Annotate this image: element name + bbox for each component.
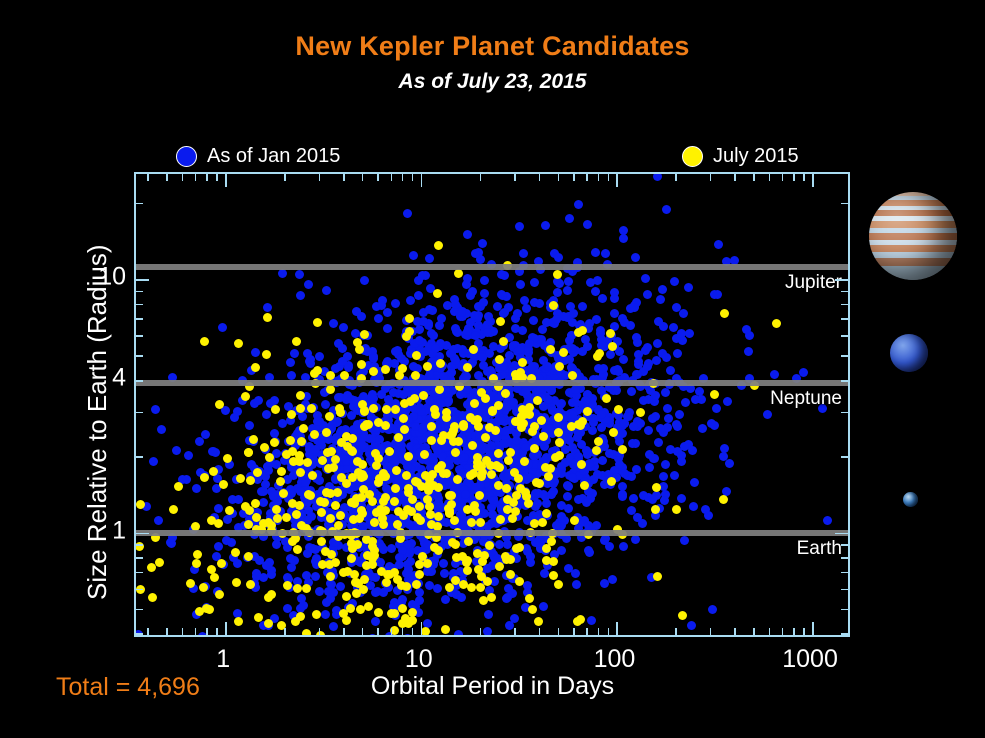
- data-point: [710, 390, 719, 399]
- data-point: [533, 396, 542, 405]
- data-point: [390, 497, 399, 506]
- axis-tick: [803, 628, 805, 635]
- data-point: [293, 584, 302, 593]
- axis-tick: [195, 628, 197, 635]
- data-point: [200, 473, 209, 482]
- axis-tick: [402, 628, 404, 635]
- data-point: [317, 537, 326, 546]
- data-point: [712, 404, 721, 413]
- data-point: [515, 543, 524, 552]
- axis-tick: [841, 544, 848, 546]
- data-point: [525, 594, 534, 603]
- data-point: [505, 351, 514, 360]
- data-point: [440, 569, 449, 578]
- data-point: [636, 408, 645, 417]
- chart-page: New Kepler Planet Candidates As of July …: [0, 0, 985, 738]
- data-point: [554, 428, 563, 437]
- data-point: [262, 410, 271, 419]
- axis-tick: [402, 174, 404, 181]
- data-point: [494, 449, 503, 458]
- legend-item-july-2015: July 2015: [682, 145, 799, 168]
- data-point: [434, 512, 443, 521]
- data-point: [296, 391, 305, 400]
- data-point: [184, 451, 193, 460]
- data-point: [681, 398, 690, 407]
- axis-tick: [412, 174, 414, 181]
- data-point: [241, 392, 250, 401]
- legend-item-jan-2015: As of Jan 2015: [176, 145, 340, 168]
- data-point: [477, 472, 486, 481]
- data-point: [656, 295, 665, 304]
- data-point: [535, 299, 544, 308]
- data-point: [425, 305, 434, 314]
- data-point: [329, 622, 338, 631]
- data-point: [375, 474, 384, 483]
- axis-tick: [147, 628, 149, 635]
- data-point: [172, 446, 181, 455]
- data-point: [186, 579, 195, 588]
- data-point: [484, 610, 493, 619]
- axis-tick: [598, 174, 600, 181]
- data-point: [251, 499, 260, 508]
- data-point: [670, 277, 679, 286]
- data-point: [363, 551, 372, 560]
- data-point: [690, 478, 699, 487]
- data-point: [292, 510, 301, 519]
- data-point: [485, 541, 494, 550]
- reference-label-jupiter: Jupiter: [785, 272, 842, 294]
- data-point: [263, 313, 272, 322]
- data-point: [454, 269, 463, 278]
- axis-tick: [753, 174, 755, 181]
- data-point: [549, 571, 558, 580]
- axis-tick: [514, 174, 516, 181]
- data-point: [463, 230, 472, 239]
- axis-tick: [841, 318, 848, 320]
- data-point: [546, 345, 555, 354]
- axis-tick: [377, 174, 379, 181]
- data-point: [482, 456, 491, 465]
- data-point: [315, 587, 324, 596]
- data-point: [223, 454, 232, 463]
- data-point: [652, 483, 661, 492]
- data-point: [564, 504, 573, 513]
- data-point: [433, 289, 442, 298]
- axis-tick: [841, 203, 848, 205]
- data-point: [403, 505, 412, 514]
- data-point: [540, 569, 549, 578]
- data-point: [427, 436, 436, 445]
- data-point: [500, 308, 509, 317]
- data-point: [659, 322, 668, 331]
- axis-tick: [136, 456, 143, 458]
- data-point: [192, 559, 201, 568]
- data-point: [606, 329, 615, 338]
- data-point: [313, 366, 322, 375]
- data-point: [406, 397, 415, 406]
- data-point: [504, 456, 513, 465]
- axis-tick: [421, 174, 423, 187]
- data-point: [598, 294, 607, 303]
- data-point: [461, 490, 470, 499]
- data-point: [155, 558, 164, 567]
- data-point: [659, 472, 668, 481]
- data-point: [267, 590, 276, 599]
- x-tick-label: 1: [216, 645, 230, 674]
- data-point: [441, 595, 450, 604]
- data-point: [613, 365, 622, 374]
- data-point: [514, 474, 523, 483]
- data-point: [605, 449, 614, 458]
- axis-tick: [147, 174, 149, 181]
- data-point: [475, 491, 484, 500]
- data-point: [478, 239, 487, 248]
- data-point: [587, 616, 596, 625]
- data-point: [444, 397, 453, 406]
- data-point: [291, 617, 300, 626]
- axis-tick: [136, 291, 143, 293]
- data-point: [701, 505, 710, 514]
- data-point: [503, 495, 512, 504]
- data-point: [292, 337, 301, 346]
- data-point: [214, 542, 223, 551]
- data-point: [661, 388, 670, 397]
- y-axis-title: Size Relative to Earth (Radius): [82, 245, 113, 600]
- data-point: [528, 605, 537, 614]
- data-point: [267, 570, 276, 579]
- data-point: [479, 361, 488, 370]
- data-point: [312, 610, 321, 619]
- data-point: [360, 330, 369, 339]
- data-point: [278, 269, 287, 278]
- axis-tick: [608, 174, 610, 181]
- data-point: [435, 385, 444, 394]
- data-point: [555, 362, 564, 371]
- data-point: [214, 519, 223, 528]
- circle-blue-icon: [176, 146, 197, 167]
- data-point: [383, 324, 392, 333]
- data-point: [335, 404, 344, 413]
- data-point: [633, 370, 642, 379]
- data-point: [597, 410, 606, 419]
- axis-tick: [225, 622, 227, 635]
- data-point: [391, 347, 400, 356]
- data-point: [425, 254, 434, 263]
- axis-tick: [753, 628, 755, 635]
- axis-tick: [573, 628, 575, 635]
- data-point: [228, 495, 237, 504]
- data-point: [232, 578, 241, 587]
- data-point: [417, 482, 426, 491]
- axis-tick: [793, 628, 795, 635]
- data-point: [287, 410, 296, 419]
- data-point: [357, 506, 366, 515]
- data-point: [392, 466, 401, 475]
- data-point: [660, 496, 669, 505]
- data-point: [518, 326, 527, 335]
- data-point: [627, 387, 636, 396]
- data-point: [157, 425, 166, 434]
- data-point: [447, 491, 456, 500]
- data-point: [391, 299, 400, 308]
- data-point: [437, 314, 446, 323]
- data-point: [538, 518, 547, 527]
- data-point: [329, 463, 338, 472]
- data-point: [618, 445, 627, 454]
- data-point: [614, 405, 623, 414]
- reference-label-earth: Earth: [797, 538, 842, 560]
- data-point: [496, 317, 505, 326]
- axis-tick: [675, 628, 677, 635]
- axis-tick: [182, 628, 184, 635]
- data-point: [441, 625, 450, 634]
- data-point: [620, 419, 629, 428]
- data-point: [414, 291, 423, 300]
- data-point: [374, 608, 383, 617]
- data-point: [714, 240, 723, 249]
- axis-tick: [343, 174, 345, 181]
- data-point: [316, 631, 325, 637]
- data-point: [445, 508, 454, 517]
- axis-tick: [841, 304, 848, 306]
- data-point: [286, 358, 295, 367]
- data-point: [339, 323, 348, 332]
- data-point: [331, 501, 340, 510]
- data-point: [653, 172, 662, 181]
- data-point: [678, 611, 687, 620]
- data-point: [406, 296, 415, 305]
- data-point: [277, 467, 286, 476]
- data-point: [653, 339, 662, 348]
- axis-tick: [812, 174, 814, 187]
- data-point: [174, 482, 183, 491]
- axis-tick: [616, 622, 618, 635]
- data-point: [608, 575, 617, 584]
- data-point: [357, 360, 366, 369]
- data-point: [199, 583, 208, 592]
- axis-tick: [598, 628, 600, 635]
- data-point: [583, 342, 592, 351]
- axis-tick: [421, 622, 423, 635]
- data-point: [629, 494, 638, 503]
- data-point: [661, 460, 670, 469]
- data-point: [244, 448, 253, 457]
- data-point: [369, 367, 378, 376]
- legend: As of Jan 2015 July 2015: [0, 142, 985, 172]
- data-point: [425, 475, 434, 484]
- data-point: [596, 326, 605, 335]
- data-point: [327, 447, 336, 456]
- data-point: [434, 483, 443, 492]
- data-point: [578, 302, 587, 311]
- data-point: [329, 319, 338, 328]
- axis-tick: [514, 628, 516, 635]
- data-point: [351, 578, 360, 587]
- data-point: [451, 576, 460, 585]
- data-point: [770, 370, 779, 379]
- data-point: [322, 286, 331, 295]
- data-point: [484, 312, 493, 321]
- data-point: [720, 444, 729, 453]
- data-point: [519, 249, 528, 258]
- data-point: [554, 253, 563, 262]
- data-point: [357, 312, 366, 321]
- data-point: [470, 416, 479, 425]
- data-point: [542, 509, 551, 518]
- data-point: [334, 339, 343, 348]
- data-point: [684, 283, 693, 292]
- data-point: [799, 368, 808, 377]
- data-point: [525, 410, 534, 419]
- data-point: [542, 544, 551, 553]
- neptune-planet-icon: [890, 334, 928, 372]
- data-point: [304, 280, 313, 289]
- data-point: [633, 338, 642, 347]
- data-point: [580, 481, 589, 490]
- data-point: [395, 553, 404, 562]
- data-point: [315, 352, 324, 361]
- axis-tick: [480, 174, 482, 181]
- data-point: [272, 505, 281, 514]
- data-point: [270, 396, 279, 405]
- axis-tick: [769, 174, 771, 181]
- axis-tick: [586, 628, 588, 635]
- data-point: [454, 630, 463, 638]
- data-point: [449, 437, 458, 446]
- data-point: [582, 498, 591, 507]
- data-point: [725, 459, 734, 468]
- axis-tick: [539, 174, 541, 181]
- data-point: [329, 588, 338, 597]
- axis-tick: [136, 304, 143, 306]
- axis-tick: [841, 412, 848, 414]
- data-point: [708, 605, 717, 614]
- page-title: New Kepler Planet Candidates: [0, 31, 985, 62]
- data-point: [653, 572, 662, 581]
- data-point: [371, 617, 380, 626]
- data-point: [326, 572, 335, 581]
- data-point: [287, 563, 296, 572]
- data-point: [403, 209, 412, 218]
- axis-tick: [136, 633, 143, 635]
- data-point: [544, 472, 553, 481]
- axis-tick: [793, 174, 795, 181]
- data-point: [601, 249, 610, 258]
- data-point: [389, 388, 398, 397]
- axis-tick: [539, 628, 541, 635]
- axis-tick: [841, 291, 848, 293]
- data-point: [572, 580, 581, 589]
- data-point: [234, 339, 243, 348]
- data-point: [352, 589, 361, 598]
- data-point: [573, 617, 582, 626]
- data-point: [283, 581, 292, 590]
- data-point: [245, 421, 254, 430]
- data-point: [297, 594, 306, 603]
- data-point: [200, 337, 209, 346]
- data-point: [685, 329, 694, 338]
- data-point: [383, 308, 392, 317]
- data-point: [334, 521, 343, 530]
- data-point: [445, 456, 454, 465]
- data-point: [689, 502, 698, 511]
- axis-tick: [206, 174, 208, 181]
- data-point: [641, 274, 650, 283]
- data-point: [215, 590, 224, 599]
- data-point: [149, 457, 158, 466]
- x-tick-label: 100: [594, 645, 636, 674]
- axis-tick: [377, 628, 379, 635]
- data-point: [308, 471, 317, 480]
- data-point: [433, 446, 442, 455]
- data-point: [619, 355, 628, 364]
- data-point: [564, 564, 573, 573]
- data-point: [763, 410, 772, 419]
- data-point: [496, 515, 505, 524]
- data-point: [513, 417, 522, 426]
- data-point: [351, 329, 360, 338]
- axis-tick: [136, 355, 143, 357]
- data-point: [610, 294, 619, 303]
- axis-tick: [136, 533, 149, 535]
- axis-tick: [136, 412, 143, 414]
- data-point: [464, 537, 473, 546]
- axis-tick: [675, 174, 677, 181]
- data-point: [192, 484, 201, 493]
- data-point: [823, 516, 832, 525]
- data-point: [529, 316, 538, 325]
- data-point: [154, 516, 163, 525]
- axis-tick: [195, 174, 197, 181]
- x-tick-label: 1000: [782, 645, 838, 674]
- data-point: [521, 387, 530, 396]
- data-point: [511, 370, 520, 379]
- data-point: [290, 349, 299, 358]
- data-point: [619, 234, 628, 243]
- data-point: [639, 396, 648, 405]
- data-point: [542, 556, 551, 565]
- data-point: [136, 500, 145, 509]
- axis-tick: [284, 174, 286, 181]
- axis-tick: [136, 279, 149, 281]
- data-point: [547, 386, 556, 395]
- axis-tick: [362, 628, 364, 635]
- data-point: [378, 514, 387, 523]
- data-point: [643, 343, 652, 352]
- data-point: [377, 567, 386, 576]
- data-point: [404, 452, 413, 461]
- data-point: [210, 573, 219, 582]
- data-point: [497, 270, 506, 279]
- data-point: [321, 400, 330, 409]
- data-point: [451, 540, 460, 549]
- data-point: [495, 355, 504, 364]
- data-point: [513, 309, 522, 318]
- data-point: [585, 319, 594, 328]
- data-point: [698, 424, 707, 433]
- data-point: [473, 453, 482, 462]
- data-point: [439, 559, 448, 568]
- data-point: [331, 455, 340, 464]
- data-point: [474, 371, 483, 380]
- data-point: [564, 482, 573, 491]
- data-point: [402, 471, 411, 480]
- data-point: [634, 357, 643, 366]
- data-point: [530, 278, 539, 287]
- data-point: [619, 226, 628, 235]
- data-point: [619, 542, 628, 551]
- data-point: [296, 468, 305, 477]
